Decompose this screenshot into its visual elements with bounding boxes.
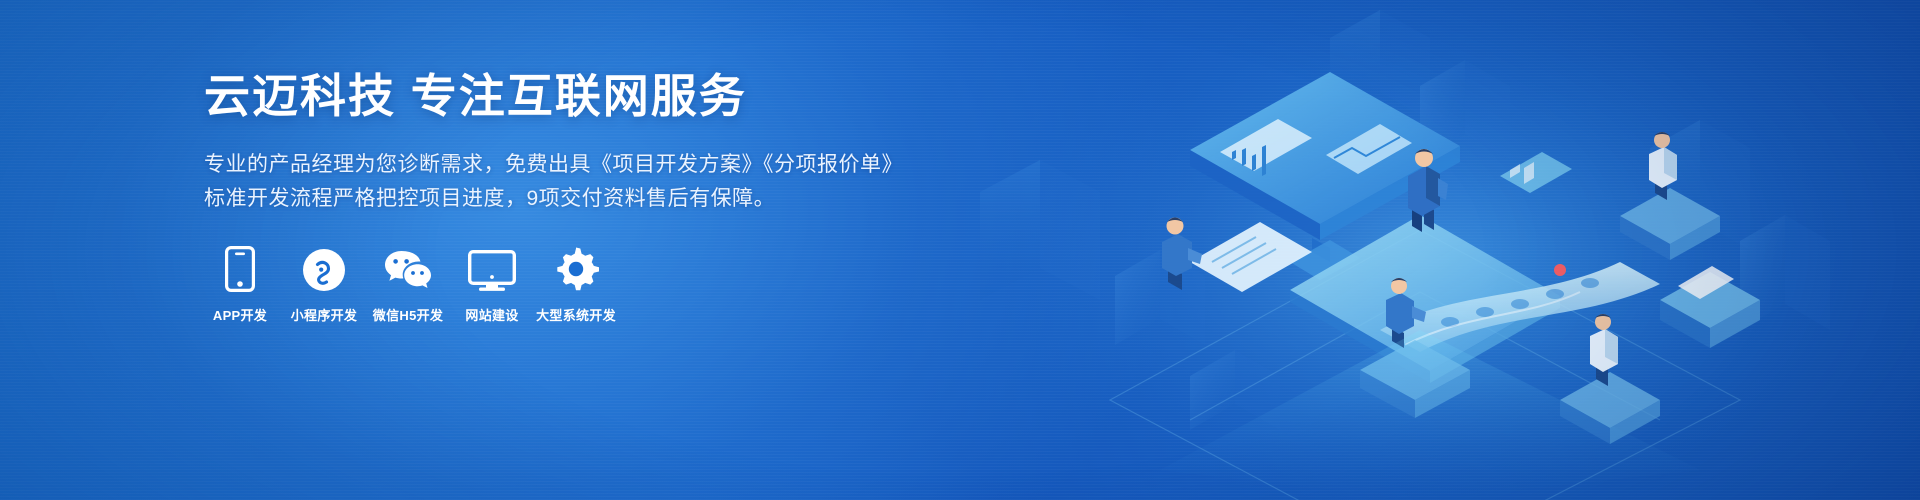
banner-title: 云迈科技 专注互联网服务 [204,68,904,126]
mini-program-icon [302,244,346,292]
wechat-icon [383,244,433,292]
service-label-wechat: 微信H5开发 [373,305,443,324]
gear-icon [553,244,599,292]
subtitle-line-2: 标准开发流程严格把控项目进度，9项交付资料售后有保障。 [204,182,904,216]
service-label-website: 网站建设 [465,305,518,324]
mobile-phone-icon [225,244,255,292]
isometric-illustration [860,0,1920,500]
monitor-icon [468,244,516,292]
banner-content: 云迈科技 专注互联网服务 专业的产品经理为您诊断需求，免费出具《项目开发方案》《… [204,68,904,324]
banner-subtitle: 专业的产品经理为您诊断需求，免费出具《项目开发方案》《分项报价单》 标准开发流程… [204,148,904,216]
service-label-mini-program: 小程序开发 [291,305,358,324]
service-item-app[interactable]: APP开发 [204,244,276,324]
service-label-app: APP开发 [213,305,267,324]
subtitle-line-1: 专业的产品经理为您诊断需求，免费出具《项目开发方案》《分项报价单》 [204,148,904,182]
service-item-mini-program[interactable]: 小程序开发 [288,244,360,324]
service-item-website[interactable]: 网站建设 [456,244,528,324]
service-icon-row: APP开发 小程序开发 [204,244,904,324]
service-item-system[interactable]: 大型系统开发 [540,244,612,324]
service-item-wechat[interactable]: 微信H5开发 [372,244,444,324]
promo-banner: 云迈科技 专注互联网服务 专业的产品经理为您诊断需求，免费出具《项目开发方案》《… [0,0,1920,500]
service-label-system: 大型系统开发 [536,305,616,324]
